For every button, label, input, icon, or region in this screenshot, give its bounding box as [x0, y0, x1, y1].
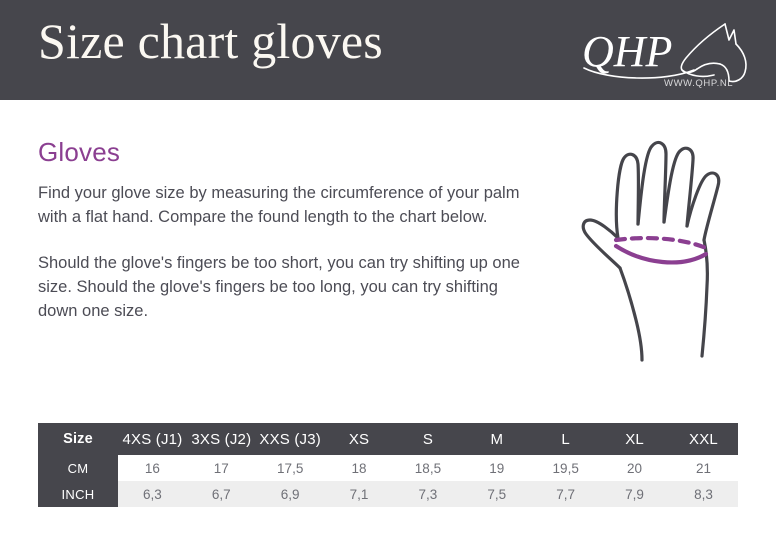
- table-cell-cm-l: 19,5: [531, 455, 600, 481]
- table-col-header-xxs: XXS (J3): [256, 423, 325, 455]
- measure-line-dashed: [616, 238, 706, 248]
- table-cell-inch-xl: 7,9: [600, 481, 669, 507]
- table-cell-cm-4xs: 16: [118, 455, 187, 481]
- table-cell-cm-m: 19: [462, 455, 531, 481]
- qhp-logo: QHP WWW.QHP.NL: [578, 18, 758, 90]
- table-cell-cm-s: 18,5: [394, 455, 463, 481]
- table-cell-cm-xxs: 17,5: [256, 455, 325, 481]
- table-cell-cm-xxl: 21: [669, 455, 738, 481]
- intro-paragraph-2: Should the glove's fingers be too short,…: [38, 251, 538, 323]
- table-cell-inch-4xs: 6,3: [118, 481, 187, 507]
- hand-illustration: [574, 128, 764, 368]
- table-col-header-3xs: 3XS (J2): [187, 423, 256, 455]
- table-row-label-cm: CM: [38, 455, 118, 481]
- size-chart-table-wrap: Size 4XS (J1) 3XS (J2) XXS (J3) XS S M L…: [38, 423, 738, 507]
- table-cell-inch-xs: 7,1: [325, 481, 394, 507]
- qhp-url-text: WWW.QHP.NL: [664, 78, 733, 89]
- table-col-header-xs: XS: [325, 423, 394, 455]
- table-corner-label: Size: [38, 423, 118, 455]
- section-heading-gloves: Gloves: [38, 138, 538, 167]
- table-cell-inch-3xs: 6,7: [187, 481, 256, 507]
- table-cell-inch-m: 7,5: [462, 481, 531, 507]
- measure-line-solid: [616, 246, 706, 262]
- table-col-header-xxl: XXL: [669, 423, 738, 455]
- intro-paragraph-1: Find your glove size by measuring the ci…: [38, 181, 538, 229]
- table-row-cm: CM 16 17 17,5 18 18,5 19 19,5 20 21: [38, 455, 738, 481]
- size-chart-table: Size 4XS (J1) 3XS (J2) XXS (J3) XS S M L…: [38, 423, 738, 507]
- table-col-header-s: S: [394, 423, 463, 455]
- qhp-wordmark-text: QHP: [582, 27, 672, 76]
- table-header-row: Size 4XS (J1) 3XS (J2) XXS (J3) XS S M L…: [38, 423, 738, 455]
- open-hand-measurement-icon: [574, 128, 764, 368]
- table-cell-cm-3xs: 17: [187, 455, 256, 481]
- table-col-header-l: L: [531, 423, 600, 455]
- table-row-label-inch: INCH: [38, 481, 118, 507]
- table-col-header-4xs: 4XS (J1): [118, 423, 187, 455]
- table-col-header-xl: XL: [600, 423, 669, 455]
- qhp-logo-svg: QHP WWW.QHP.NL: [578, 18, 758, 90]
- page-title: Size chart gloves: [38, 13, 383, 71]
- table-cell-cm-xl: 20: [600, 455, 669, 481]
- table-row-inch: INCH 6,3 6,7 6,9 7,1 7,3 7,5 7,7 7,9 8,3: [38, 481, 738, 507]
- table-cell-inch-xxs: 6,9: [256, 481, 325, 507]
- table-cell-inch-s: 7,3: [394, 481, 463, 507]
- intro-content: Gloves Find your glove size by measuring…: [38, 138, 538, 323]
- table-cell-inch-l: 7,7: [531, 481, 600, 507]
- horse-head-icon: [681, 24, 746, 82]
- table-col-header-m: M: [462, 423, 531, 455]
- table-cell-inch-xxl: 8,3: [669, 481, 738, 507]
- page-header: Size chart gloves QHP WWW.QHP.NL: [0, 0, 776, 100]
- table-cell-cm-xs: 18: [325, 455, 394, 481]
